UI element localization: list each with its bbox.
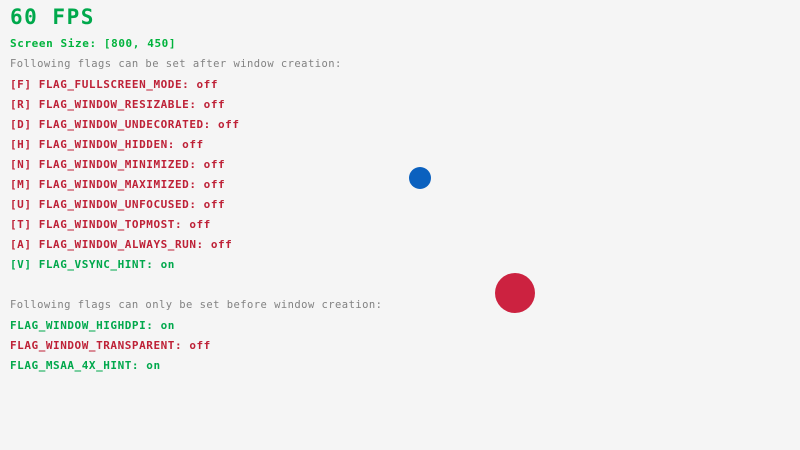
flag-row-flag-window-highdpi[interactable]: FLAG_WINDOW_HIGHDPI: on	[10, 320, 175, 331]
flag-row-flag-msaa-4x-hint[interactable]: FLAG_MSAA_4X_HINT: on	[10, 360, 161, 371]
raylib-window-canvas: 60 FPS Screen Size: [800, 450] Following…	[0, 0, 800, 450]
flag-row-flag-window-topmost[interactable]: [T] FLAG_WINDOW_TOPMOST: off	[10, 219, 211, 230]
flag-row-flag-window-unfocused[interactable]: [U] FLAG_WINDOW_UNFOCUSED: off	[10, 199, 225, 210]
creation-flags-header: Following flags can only be set before w…	[10, 300, 382, 311]
fps-counter: 60 FPS	[10, 7, 95, 28]
flag-row-flag-window-transparent[interactable]: FLAG_WINDOW_TRANSPARENT: off	[10, 340, 211, 351]
flag-row-flag-window-hidden[interactable]: [H] FLAG_WINDOW_HIDDEN: off	[10, 139, 204, 150]
flag-row-flag-window-undecorated[interactable]: [D] FLAG_WINDOW_UNDECORATED: off	[10, 119, 240, 130]
flag-row-flag-window-minimized[interactable]: [N] FLAG_WINDOW_MINIMIZED: off	[10, 159, 225, 170]
red-ball-shape	[495, 273, 535, 313]
blue-ball-shape	[409, 167, 431, 189]
flag-row-flag-fullscreen-mode[interactable]: [F] FLAG_FULLSCREEN_MODE: off	[10, 79, 218, 90]
screen-size-label: Screen Size: [800, 450]	[10, 38, 176, 49]
flag-row-flag-vsync-hint[interactable]: [V] FLAG_VSYNC_HINT: on	[10, 259, 175, 270]
flag-row-flag-window-always-run[interactable]: [A] FLAG_WINDOW_ALWAYS_RUN: off	[10, 239, 232, 250]
runtime-flags-header: Following flags can be set after window …	[10, 59, 342, 70]
flag-row-flag-window-resizable[interactable]: [R] FLAG_WINDOW_RESIZABLE: off	[10, 99, 225, 110]
flag-row-flag-window-maximized[interactable]: [M] FLAG_WINDOW_MAXIMIZED: off	[10, 179, 225, 190]
